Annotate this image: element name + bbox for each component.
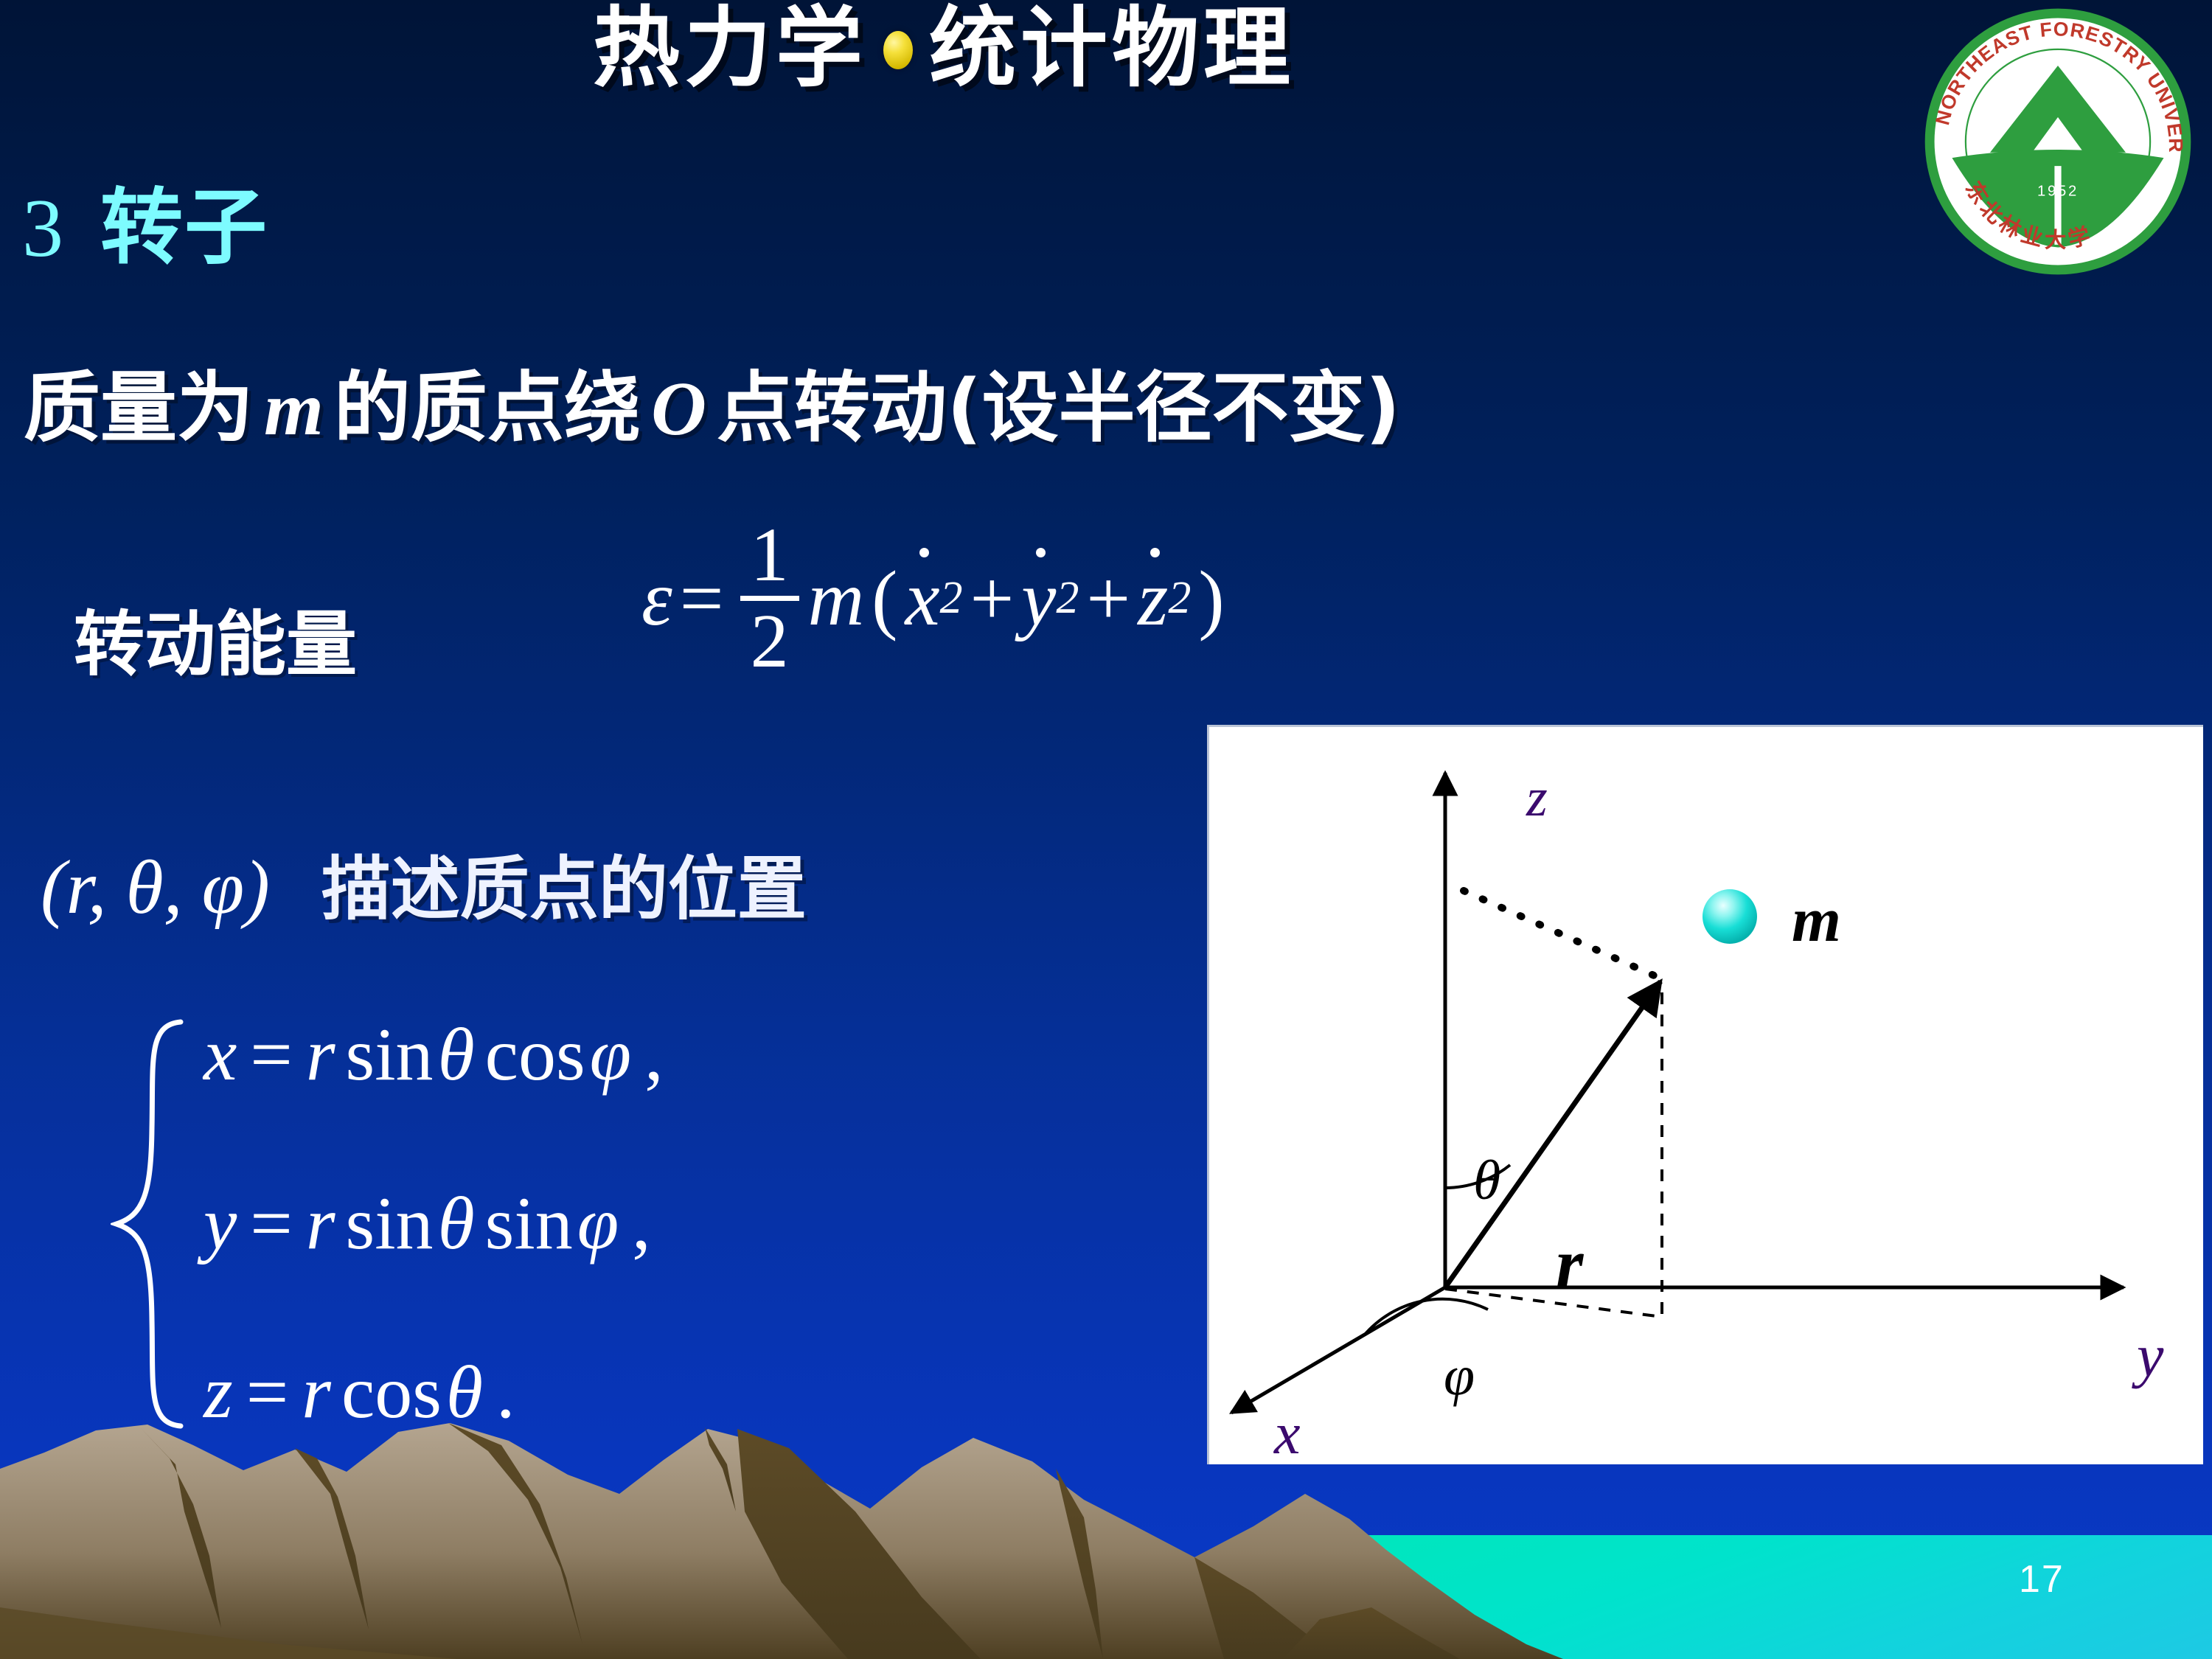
formula-term2-exp: 2	[1056, 572, 1079, 625]
formula-term3-exp: 2	[1168, 572, 1191, 625]
university-logo: 1952 NORTHEAST FORESTRY UNIVERSITY 东北林业大…	[1922, 6, 2194, 277]
formula-plus1: +	[963, 554, 1022, 644]
mountain-scenery-decoration	[0, 1423, 2212, 1659]
eq3-punct: .	[483, 1351, 529, 1434]
eq2-punct: ,	[619, 1182, 664, 1265]
eq2-fn1: sin	[335, 1182, 438, 1265]
equation-row: z=rcosθ.	[204, 1355, 677, 1430]
eq1-ang1: θ	[438, 1013, 475, 1096]
formula-mass: m	[808, 554, 865, 644]
eq3-r: r	[302, 1351, 331, 1434]
formula-open-paren: (	[864, 554, 905, 644]
fraction-denominator: 2	[740, 602, 799, 681]
formula-epsilon: ε	[641, 554, 672, 644]
theta-label: θ	[1473, 1150, 1500, 1211]
eq1-punct: ,	[631, 1013, 677, 1096]
eq1-ang2: φ	[590, 1013, 631, 1096]
formula-ydot: y	[1021, 554, 1056, 644]
eq3-equals: =	[233, 1351, 302, 1434]
dot-over-z-icon	[1150, 548, 1160, 557]
eq3-lhs: z	[204, 1351, 233, 1434]
eq2-fn2: sin	[475, 1182, 577, 1265]
radius-label: r	[1556, 1224, 1585, 1303]
spherical-coordinates-figure: z y x θ φ r m	[1207, 725, 2203, 1464]
equation-row: y=rsinθsinφ,	[204, 1186, 677, 1262]
formula-close-paren: )	[1191, 554, 1231, 644]
eq2-lhs: y	[204, 1182, 237, 1265]
eq2-r: r	[306, 1182, 335, 1265]
y-axis-label: y	[2132, 1322, 2164, 1389]
formula-zdot: z	[1138, 554, 1168, 644]
section-title: 转子	[100, 180, 268, 276]
formula-xdot: x	[905, 554, 939, 644]
statement-paren-text: 设半径不变	[982, 363, 1366, 453]
formula-fraction: 1 2	[740, 516, 799, 681]
coordinates-description: 描述质点的位置	[270, 849, 807, 930]
formula-plus2: +	[1079, 554, 1138, 644]
phi-label: φ	[1444, 1345, 1475, 1407]
eq1-fn2: cos	[475, 1013, 590, 1096]
statement-part1: 质量为	[24, 363, 254, 453]
phi-arc	[1364, 1299, 1488, 1335]
x-axis	[1231, 1287, 1445, 1413]
eq1-equals: =	[237, 1013, 306, 1096]
page-number: 17	[2019, 1557, 2065, 1601]
mass-label: m	[1792, 884, 1841, 955]
statement-paren-close: )	[1366, 363, 1401, 453]
formula-term1: x	[905, 555, 939, 641]
rotational-energy-formula: ε = 1 2 m ( x2 + y2 + z2 )	[641, 516, 1232, 681]
eq3-fn1: cos	[331, 1351, 446, 1434]
equation-row: x=rsinθcosφ,	[204, 1018, 677, 1093]
eq2-ang1: θ	[438, 1182, 475, 1265]
section-number: 3	[22, 183, 65, 274]
eq1-fn1: sin	[335, 1013, 438, 1096]
left-brace-icon	[111, 1018, 192, 1430]
eq2-equals: =	[237, 1182, 306, 1265]
logo-year: 1952	[2037, 184, 2079, 200]
spherical-coordinate-equations: x=rsinθcosφ, y=rsinθsinφ, z=rcosθ.	[111, 1018, 677, 1430]
radius-vector	[1445, 981, 1660, 1287]
formula-term3: z	[1138, 555, 1168, 641]
formula-term1-exp: 2	[940, 572, 963, 625]
slide-canvas: 热力学统计物理 1952 NORTHEAST FORESTRY UNIVERSI…	[0, 0, 2212, 1659]
mountains-svg	[0, 1423, 2212, 1659]
university-seal-icon: 1952 NORTHEAST FORESTRY UNIVERSITY 东北林业大…	[1922, 6, 2194, 277]
equation-list: x=rsinθcosφ, y=rsinθsinφ, z=rcosθ.	[204, 1018, 677, 1430]
section-heading: 3转子	[22, 161, 268, 280]
formula-term2: y	[1021, 555, 1056, 641]
rotational-energy-label: 转动能量	[74, 587, 357, 689]
xy-projection-dashed-line	[1445, 1289, 1662, 1317]
formula-equals: =	[672, 554, 731, 644]
figure-svg: z y x θ φ r m	[1209, 727, 2203, 1464]
eq1-r: r	[306, 1013, 335, 1096]
dotted-projection-line	[1464, 891, 1659, 978]
brace-svg	[111, 1018, 192, 1430]
statement-paren-open: (	[947, 363, 982, 453]
slide-title-part1: 热力学	[593, 0, 867, 99]
dot-over-x-icon	[919, 548, 929, 557]
statement-symbol-m: m	[254, 366, 334, 451]
slide-title-text: 热力学统计物理	[593, 4, 1295, 91]
cyan-sphere-icon	[1703, 889, 1757, 944]
yellow-dot-icon	[883, 31, 913, 69]
coordinates-math: (r, θ, φ)	[41, 845, 270, 930]
statement-part3: 点转动	[717, 363, 947, 453]
z-axis-label: z	[1526, 768, 1548, 828]
eq1-lhs: x	[204, 1013, 237, 1096]
statement-line: 质量为m的质点绕O点转动(设半径不变)	[24, 345, 1400, 456]
statement-symbol-o: O	[641, 366, 717, 451]
eq2-ang2: φ	[577, 1182, 619, 1265]
slide-title: 热力学统计物理	[0, 4, 1888, 91]
coordinates-line: (r, θ, φ)描述质点的位置	[41, 833, 807, 933]
statement-part2: 的质点绕	[334, 363, 641, 453]
dot-over-y-icon	[1036, 548, 1046, 557]
fraction-numerator: 1	[740, 516, 799, 594]
eq3-ang1: θ	[446, 1351, 483, 1434]
slide-title-part2: 统计物理	[929, 0, 1295, 99]
